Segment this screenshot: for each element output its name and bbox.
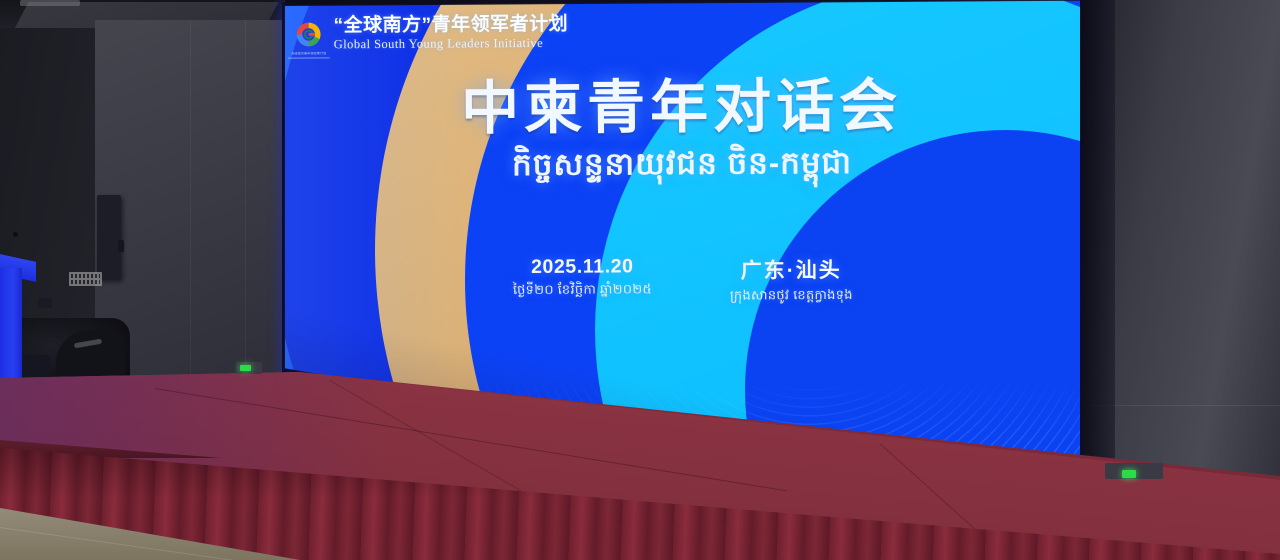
event-meta-row: 2025.11.20 ថ្ងៃទី២០ ខែវិច្ឆិកា ឆ្នាំ២០២៥…: [285, 252, 1080, 309]
exit-sign-light: [1122, 470, 1136, 478]
wall-seam: [190, 20, 191, 420]
screen-side-shadow: [1075, 0, 1115, 520]
event-title-chinese: 中柬青年对话会: [285, 75, 1079, 141]
event-date-khmer: ថ្ងៃទី២០ ខែវិច្ឆិកា ឆ្នាំ២០២៥: [513, 281, 652, 301]
event-location-khmer: ក្រុងសានថូវ ខេត្តក្វាងទុង: [730, 287, 853, 307]
wall-speaker: [97, 195, 121, 280]
conference-stage-photo: 全球南方青年领军者计划 “全球南方”青年领军者计划 Global South Y…: [0, 0, 1280, 560]
brand-lockup: 全球南方青年领军者计划 “全球南方”青年领军者计划 Global South Y…: [294, 13, 569, 53]
event-location-block: 广东·汕头 ក្រុងសានថូវ ខេត្តក្វាងទុង: [730, 254, 853, 307]
event-date: 2025.11.20: [513, 255, 652, 279]
event-title-block: 中柬青年对话会 កិច្ចសន្ទនាយុវជន ចិន-កម្ពុជា: [285, 75, 1080, 186]
brand-title-chinese: “全球南方”青年领军者计划: [334, 15, 569, 36]
exit-sign-light: [240, 365, 251, 371]
event-date-block: 2025.11.20 ថ្ងៃទី២០ ខែវិច្ឆិកា ឆ្នាំ២០២៥: [513, 255, 652, 308]
brand-title-english: Global South Young Leaders Initiative: [334, 36, 569, 53]
speaker-bracket: [118, 240, 124, 252]
wall-fixture-dot: [13, 232, 18, 237]
wall-socket-panel: [69, 272, 102, 286]
event-title-khmer: កិច្ចសន្ទនាយុវជន ចិន-កម្ពុជា: [285, 142, 1080, 186]
event-location: 广东·汕头: [730, 254, 853, 285]
global-south-logo-icon: 全球南方青年领军者计划: [294, 19, 324, 49]
wall-seam: [245, 20, 246, 420]
brand-divider: [288, 57, 330, 58]
ceiling-light-fixture: [20, 0, 80, 6]
brand-logo-caption: 全球南方青年领军者计划: [286, 51, 332, 55]
equipment-small-item: [38, 298, 52, 308]
brand-text-block: “全球南方”青年领军者计划 Global South Young Leaders…: [334, 13, 569, 52]
